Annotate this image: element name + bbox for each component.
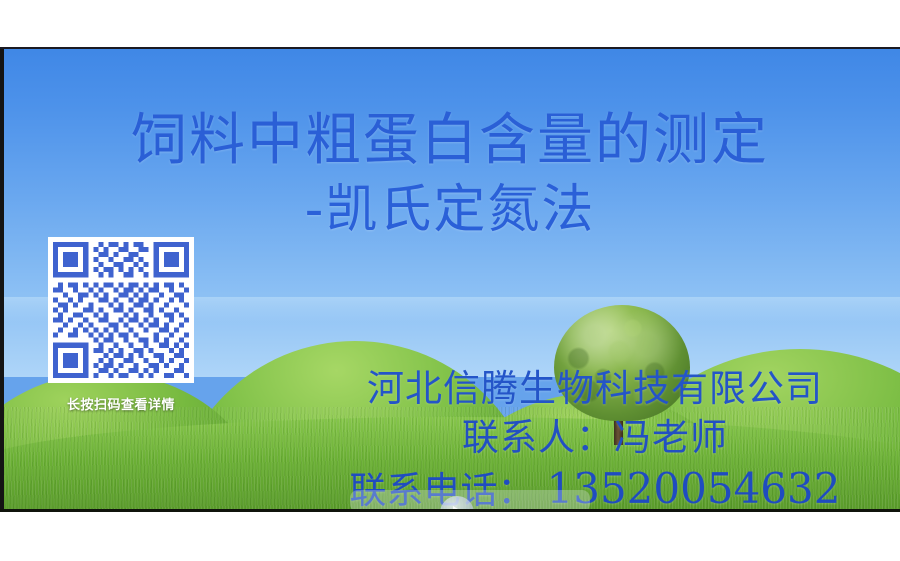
top-white-gutter	[0, 0, 900, 47]
stage-top-border	[0, 47, 900, 49]
tree-canopy	[554, 305, 690, 421]
stage-bottom-border	[0, 509, 900, 512]
qr-code-image[interactable]	[48, 237, 194, 383]
qr-code-svg	[48, 237, 194, 383]
stage-left-border	[0, 47, 4, 512]
qr-caption: 长按扫码查看详情	[48, 394, 194, 413]
video-stage[interactable]: 饲料中粗蛋白含量的测定 -凯氏定氮法	[0, 47, 900, 512]
bottom-white-gutter	[0, 512, 900, 561]
tree-illustration	[548, 305, 696, 453]
qr-block[interactable]: 长按扫码查看详情	[48, 237, 194, 413]
page-root: 饲料中粗蛋白含量的测定 -凯氏定氮法	[0, 0, 900, 561]
